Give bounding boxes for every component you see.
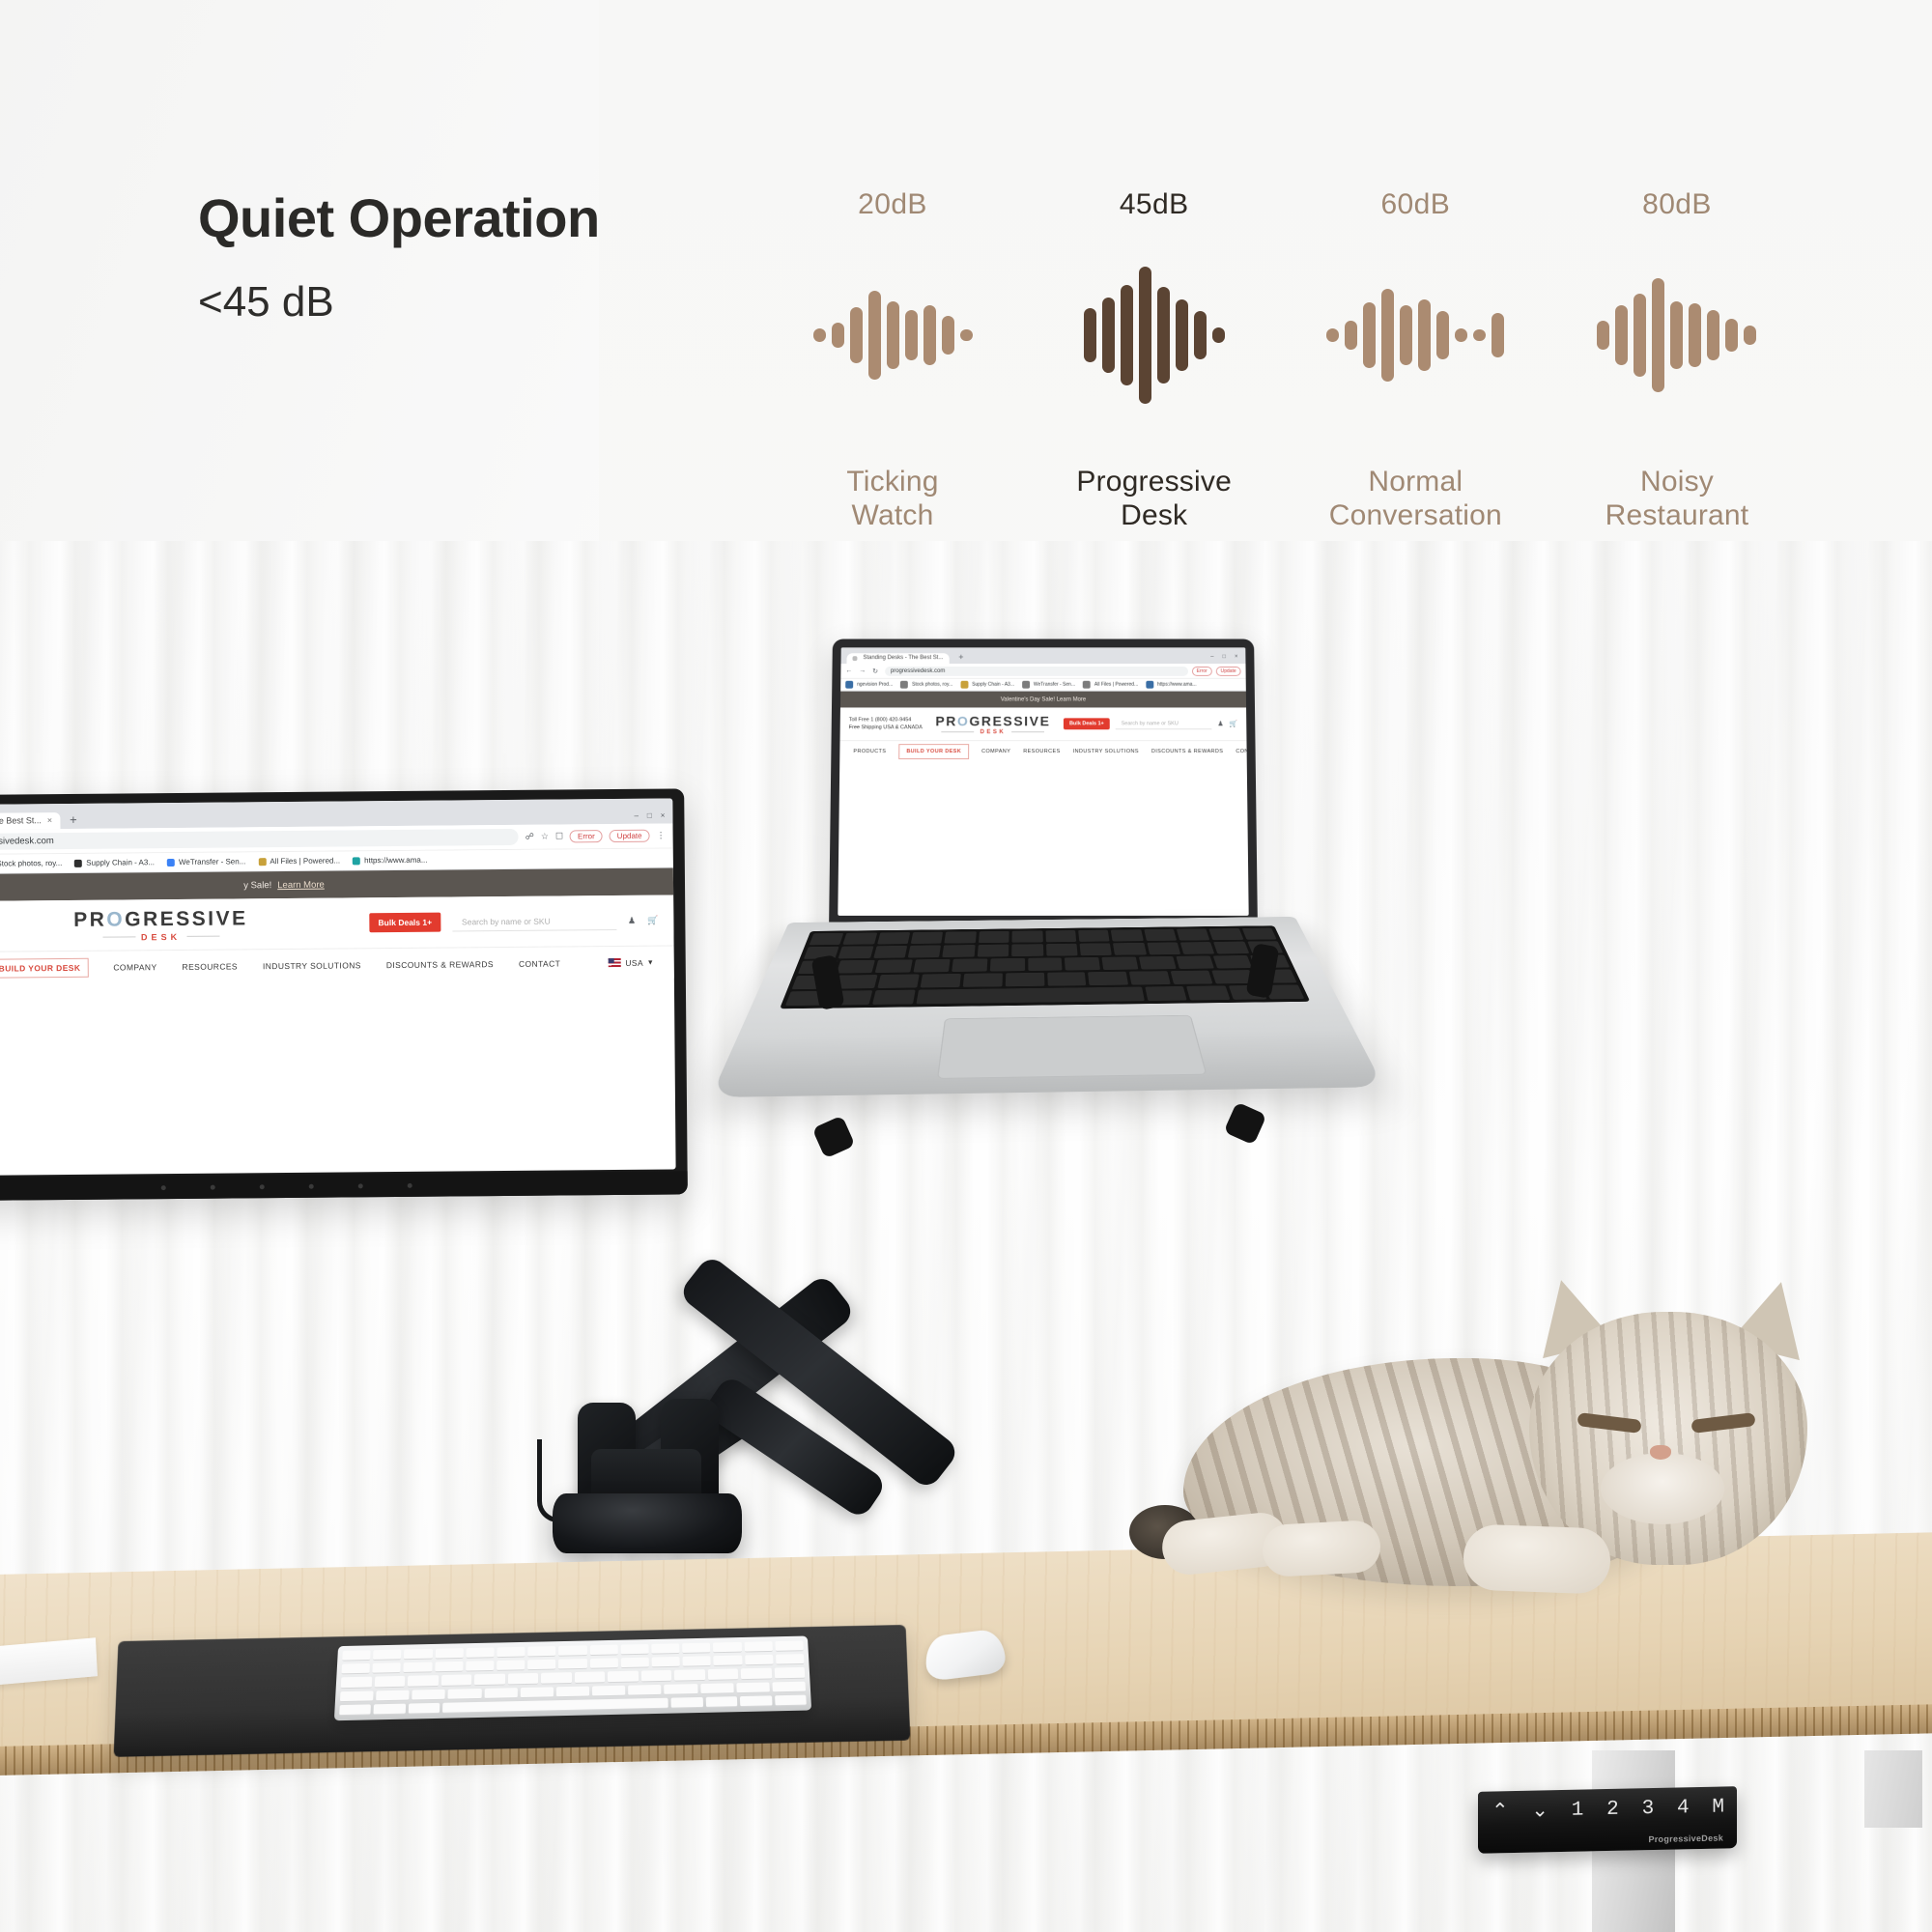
heart-icon: ❤ [511, 980, 524, 985]
sidebar-icon[interactable]: ☐ [555, 831, 563, 841]
bookmark-item[interactable]: https://www.ama... [353, 856, 427, 866]
control-key-up[interactable]: ⌃ [1492, 1799, 1510, 1824]
laptop-search-input[interactable]: Search by name or SKU [1116, 719, 1212, 729]
bookmark-item[interactable]: WeTransfer - Sen... [167, 857, 245, 867]
waveform-bar [1418, 299, 1431, 371]
bookmark-item[interactable]: Stock photos, roy... [900, 681, 952, 689]
label-line-2: Watch [846, 498, 938, 532]
laptop-bulk-deals-button[interactable]: Bulk Deals 1+ [1064, 718, 1110, 729]
page-title: Quiet Operation [198, 191, 600, 245]
bookmark-item[interactable]: Supply Chain - A3... [960, 681, 1014, 689]
monitor-screen: Standing Desks - The Best St... × + – □ … [0, 798, 676, 1176]
waveform-bar [1473, 329, 1486, 341]
nav-item-industry-solutions[interactable]: INDUSTRY SOLUTIONS [263, 960, 361, 971]
product-scene: Quiet Operation <45 dB 20dBTickingWatch4… [0, 0, 1932, 1932]
sound-level-chart: 20dBTickingWatch45dBProgressiveDesk60dBN… [773, 188, 1797, 532]
sound-group-1: 20dBTickingWatch [773, 188, 1012, 532]
window-controls[interactable]: – □ × [1203, 654, 1245, 664]
sound-group-4: 80dBNoisyRestaurant [1557, 188, 1797, 532]
nav-forward-icon[interactable]: → [859, 668, 868, 674]
waveform-bar [1363, 302, 1376, 368]
hero-shelf [583, 979, 652, 985]
sound-source-label: NoisyRestaurant [1605, 465, 1749, 532]
new-tab-button[interactable]: + [64, 812, 83, 829]
bookmark-favicon-icon [960, 681, 968, 689]
flag-icon [608, 958, 620, 967]
waveform-bar [1597, 321, 1609, 350]
headline-block: Quiet Operation <45 dB [198, 191, 600, 327]
control-panel-keys[interactable]: ⌃⌄1234M [1492, 1794, 1725, 1824]
bookmark-favicon-icon [1083, 681, 1091, 689]
bookmark-favicon-icon [258, 858, 266, 866]
nav-item-build-your-desk[interactable]: BUILD YOUR DESK [898, 744, 969, 759]
share-icon[interactable]: ☍ [526, 832, 534, 842]
waveform-bar [1212, 327, 1225, 343]
sound-waveform [1557, 248, 1797, 422]
laptop-site-navigation: PRODUCTSBUILD YOUR DESKCOMPANYRESOURCESI… [839, 740, 1246, 761]
bookmark-favicon-icon [845, 681, 853, 689]
maximize-icon[interactable]: □ [1222, 654, 1226, 660]
site-logo-main: PROGRESSIVE [73, 907, 248, 932]
heart-icon: ❤ [456, 980, 464, 984]
sound-db-label: 60dB [1380, 188, 1450, 221]
label-line-1: Ticking [846, 465, 938, 498]
nav-item-discounts-rewards[interactable]: DISCOUNTS & REWARDS [386, 959, 494, 970]
laptop-tab-title: Standing Desks - The Best St... [863, 655, 943, 661]
extension-error-pill[interactable]: Error [1192, 667, 1212, 676]
laptop-trackpad[interactable] [937, 1015, 1207, 1079]
bookmark-item[interactable]: WeTransfer - Sen... [1022, 681, 1075, 689]
minimize-icon[interactable]: – [634, 811, 639, 820]
site-header: 414 , CANADA) PROGRESSIVE DESK Bulk Deal… [0, 895, 674, 952]
laptop-browser-tab[interactable]: Standing Desks - The Best St... [846, 653, 949, 664]
waveform-bar [1436, 311, 1449, 359]
laptop-logo-main: PROGRESSIVE [935, 713, 1050, 728]
bookmark-item[interactable]: All Files | Powered... [258, 856, 340, 866]
nav-reload-icon[interactable]: ↻ [872, 668, 881, 675]
label-line-1: Noisy [1605, 465, 1749, 498]
site-search-input[interactable]: Search by name or SKU [452, 912, 616, 931]
sound-db-label: 80dB [1642, 188, 1712, 221]
waveform-bar [850, 307, 863, 363]
cat [1145, 1273, 1821, 1611]
sound-db-label: 45dB [1120, 188, 1189, 221]
laptop-browser-tabstrip: Standing Desks - The Best St... + – □ × [841, 647, 1246, 664]
waveform-bar [1492, 313, 1504, 357]
laptop-lid: Standing Desks - The Best St... + – □ × … [829, 639, 1258, 929]
label-line-2: Desk [1076, 498, 1232, 532]
cat-paw [1262, 1520, 1382, 1577]
nav-item-build-your-desk[interactable]: BUILD YOUR DESK [0, 957, 88, 978]
sound-waveform [1295, 248, 1535, 422]
account-icon[interactable]: ♟ [628, 915, 636, 925]
waveform-bar [1670, 301, 1683, 369]
extension-error-pill[interactable]: Error [570, 830, 603, 842]
laptop-site-header: Toll Free 1 (800) 420-9454 Free Shipping… [840, 707, 1247, 740]
label-line-2: Conversation [1329, 498, 1502, 532]
waveform-bar [1707, 310, 1719, 360]
window-close-icon[interactable]: × [661, 811, 666, 820]
window-controls[interactable]: – □ × [626, 810, 672, 823]
waveform-bar [1102, 298, 1115, 373]
waveform-bar [942, 316, 954, 355]
control-key-down[interactable]: ⌄ [1531, 1798, 1549, 1823]
nav-item-industry-solutions[interactable]: INDUSTRY SOLUTIONS [1073, 749, 1139, 754]
waveform-bar [1652, 278, 1664, 392]
waveform-bar [1157, 287, 1170, 384]
monitor: Standing Desks - The Best St... × + – □ … [0, 788, 688, 1201]
laptop-keyboard[interactable] [780, 925, 1310, 1009]
close-icon[interactable]: × [47, 815, 52, 825]
waveform-bar [1139, 267, 1151, 404]
waveform-bar [868, 291, 881, 380]
bookmark-favicon-icon [900, 681, 908, 689]
waveform-bar [960, 329, 973, 341]
nav-back-icon[interactable]: ← [845, 668, 855, 674]
nav-item-products[interactable]: PRODUCTS [853, 749, 886, 754]
sound-db-label: 20dB [858, 188, 927, 221]
bookmark-item[interactable]: Supply Chain - A3... [74, 858, 155, 867]
bookmark-label: All Files | Powered... [1094, 682, 1138, 688]
laptop-contact-info: Toll Free 1 (800) 420-9454 Free Shipping… [849, 716, 923, 731]
cat-nose [1650, 1445, 1671, 1460]
nav-item-contact[interactable]: CONTACT [1236, 749, 1248, 754]
browser-tab[interactable]: Standing Desks - The Best St... × [0, 812, 60, 830]
label-line-1: Progressive [1076, 465, 1232, 498]
bookmark-favicon-icon [1022, 681, 1030, 689]
desk-leg-secondary [1864, 1750, 1922, 1828]
control-key-m[interactable]: M [1712, 1796, 1725, 1818]
bookmark-item[interactable]: ngevision Prod... [845, 681, 893, 689]
extension-update-pill[interactable]: Update [1216, 667, 1241, 676]
minimize-icon[interactable]: – [1210, 654, 1213, 660]
laptop-site-logo[interactable]: PROGRESSIVE DESK [935, 713, 1050, 735]
heart-icon: ♡ [433, 980, 473, 984]
site-logo[interactable]: PROGRESSIVE DESK [73, 907, 248, 943]
waveform-bar [832, 323, 844, 348]
cart-icon[interactable]: 🛒 [1230, 720, 1238, 727]
address-bar[interactable]: progressivedesk.com [0, 829, 519, 850]
bookmark-label: ngevision Prod... [857, 682, 893, 688]
bookmark-favicon-icon [1146, 681, 1153, 689]
label-line-2: Restaurant [1605, 498, 1749, 532]
bookmark-label: Stock photos, roy... [0, 859, 62, 868]
sound-source-label: ProgressiveDesk [1076, 465, 1232, 532]
laptop-promo-banner: Valentine's Day Sale! Learn More [840, 692, 1246, 708]
bookmark-star-icon[interactable]: ☆ [541, 832, 549, 842]
label-line-1: Normal [1329, 465, 1502, 498]
bookmark-item[interactable]: Stock photos, roy... [0, 859, 62, 868]
nav-item-resources[interactable]: RESOURCES [182, 961, 238, 972]
waveform-bar [1326, 328, 1339, 342]
waveform-bar [1194, 311, 1207, 359]
desktop-keyboard[interactable] [334, 1636, 811, 1721]
bookmark-label: Supply Chain - A3... [86, 858, 155, 867]
laptop-screen: Standing Desks - The Best St... + – □ × … [838, 647, 1248, 916]
bookmark-label: All Files | Powered... [270, 856, 340, 866]
bookmark-item[interactable]: All Files | Powered... [1083, 681, 1138, 689]
control-panel-brand: ProgressiveDesk [1648, 1833, 1723, 1844]
control-key-4[interactable]: 4 [1677, 1797, 1690, 1819]
laptop-bookmarks-bar: ngevision Prod...Stock photos, roy...Sup… [840, 679, 1246, 692]
kebab-menu-icon[interactable]: ⋮ [657, 831, 666, 841]
browser-tab-title: Standing Desks - The Best St... [0, 815, 42, 826]
waveform-bar [1744, 326, 1756, 345]
waveform-bar [1176, 299, 1188, 371]
country-label: USA [625, 957, 643, 967]
bookmark-label: Supply Chain - A3... [972, 682, 1014, 688]
laptop-base [710, 917, 1383, 1097]
sound-waveform [1035, 248, 1274, 422]
new-tab-button[interactable]: + [952, 652, 969, 664]
control-key-1[interactable]: 1 [1572, 1799, 1585, 1821]
nav-item-company[interactable]: COMPANY [113, 962, 156, 972]
promo-text: y Sale! [243, 880, 271, 891]
waveform-bar [1381, 289, 1394, 382]
laptop-phone: Toll Free 1 (800) 420-9454 [849, 716, 923, 724]
heart-icon: ❤ [526, 980, 535, 985]
control-key-2[interactable]: 2 [1606, 1798, 1620, 1820]
waveform-bar [1121, 285, 1133, 385]
cart-icon[interactable]: 🛒 [647, 915, 658, 925]
waveform-bar [1345, 321, 1357, 350]
window-close-icon[interactable]: × [1235, 654, 1238, 660]
favicon-icon [852, 656, 857, 661]
maximize-icon[interactable]: □ [647, 811, 652, 820]
waveform-bar [887, 301, 899, 369]
bookmark-label: https://www.ama... [1157, 682, 1197, 688]
waveform-bar [923, 305, 936, 365]
waveform-bar [1084, 308, 1096, 362]
bookmark-label: Stock photos, roy... [912, 682, 952, 688]
bookmark-favicon-icon [74, 859, 82, 867]
sound-waveform [773, 248, 1012, 422]
sound-source-label: TickingWatch [846, 465, 938, 532]
extension-update-pill[interactable]: Update [610, 830, 650, 842]
bookmark-label: WeTransfer - Sen... [179, 857, 245, 867]
laptop-logo-sub: DESK [935, 729, 1050, 735]
chevron-down-icon: ▾ [648, 957, 653, 968]
bookmark-item[interactable]: https://www.ama... [1146, 681, 1197, 689]
waveform-bar [905, 310, 918, 360]
site-logo-sub: DESK [73, 931, 247, 943]
bookmark-favicon-icon [353, 857, 360, 865]
waveform-bar [1725, 319, 1738, 352]
control-key-3[interactable]: 3 [1642, 1797, 1656, 1819]
waveform-bar [1689, 303, 1701, 367]
laptop-shipping: Free Shipping USA & CANADA [849, 724, 923, 731]
sound-group-2: 45dBProgressiveDesk [1035, 188, 1274, 532]
country-selector[interactable]: USA▾ [608, 957, 652, 968]
promo-learn-more-link[interactable]: Learn More [277, 879, 325, 890]
nav-item-resources[interactable]: RESOURCES [1023, 749, 1060, 754]
bookmark-favicon-icon [167, 858, 175, 866]
cat-paw [1463, 1523, 1611, 1594]
laptop: Standing Desks - The Best St... + – □ × … [831, 638, 1256, 927]
bookmark-label: WeTransfer - Sen... [1034, 682, 1075, 688]
site-navigation: PRODUCTSBUILD YOUR DESKCOMPANYRESOURCESI… [0, 945, 674, 984]
waveform-bar [1615, 305, 1628, 365]
sound-source-label: NormalConversation [1329, 465, 1502, 532]
waveform-bar [1400, 305, 1412, 365]
sound-group-3: 60dBNormalConversation [1295, 188, 1535, 532]
waveform-bar [1455, 328, 1467, 342]
bulk-deals-button[interactable]: Bulk Deals 1+ [369, 913, 440, 933]
nav-item-discounts-rewards[interactable]: DISCOUNTS & REWARDS [1151, 749, 1224, 754]
laptop-address-bar[interactable]: progressivedesk.com [885, 667, 1188, 676]
cat-muzzle [1601, 1453, 1724, 1524]
laptop-promo-text: Valentine's Day Sale! Learn More [1001, 696, 1086, 702]
nav-item-contact[interactable]: CONTACT [519, 958, 560, 968]
laptop-browser-toolbar: ← → ↻ progressivedesk.com Error Update [840, 664, 1245, 679]
waveform-bar [813, 328, 826, 342]
page-subtitle: <45 dB [198, 278, 600, 327]
nav-item-company[interactable]: COMPANY [981, 749, 1010, 754]
bookmark-label: https://www.ama... [364, 856, 427, 866]
mount-base [553, 1493, 742, 1553]
desk-control-panel[interactable]: ⌃⌄1234M ProgressiveDesk [1478, 1786, 1737, 1854]
waveform-bar [1634, 294, 1646, 377]
account-icon[interactable]: ♟ [1217, 720, 1223, 727]
